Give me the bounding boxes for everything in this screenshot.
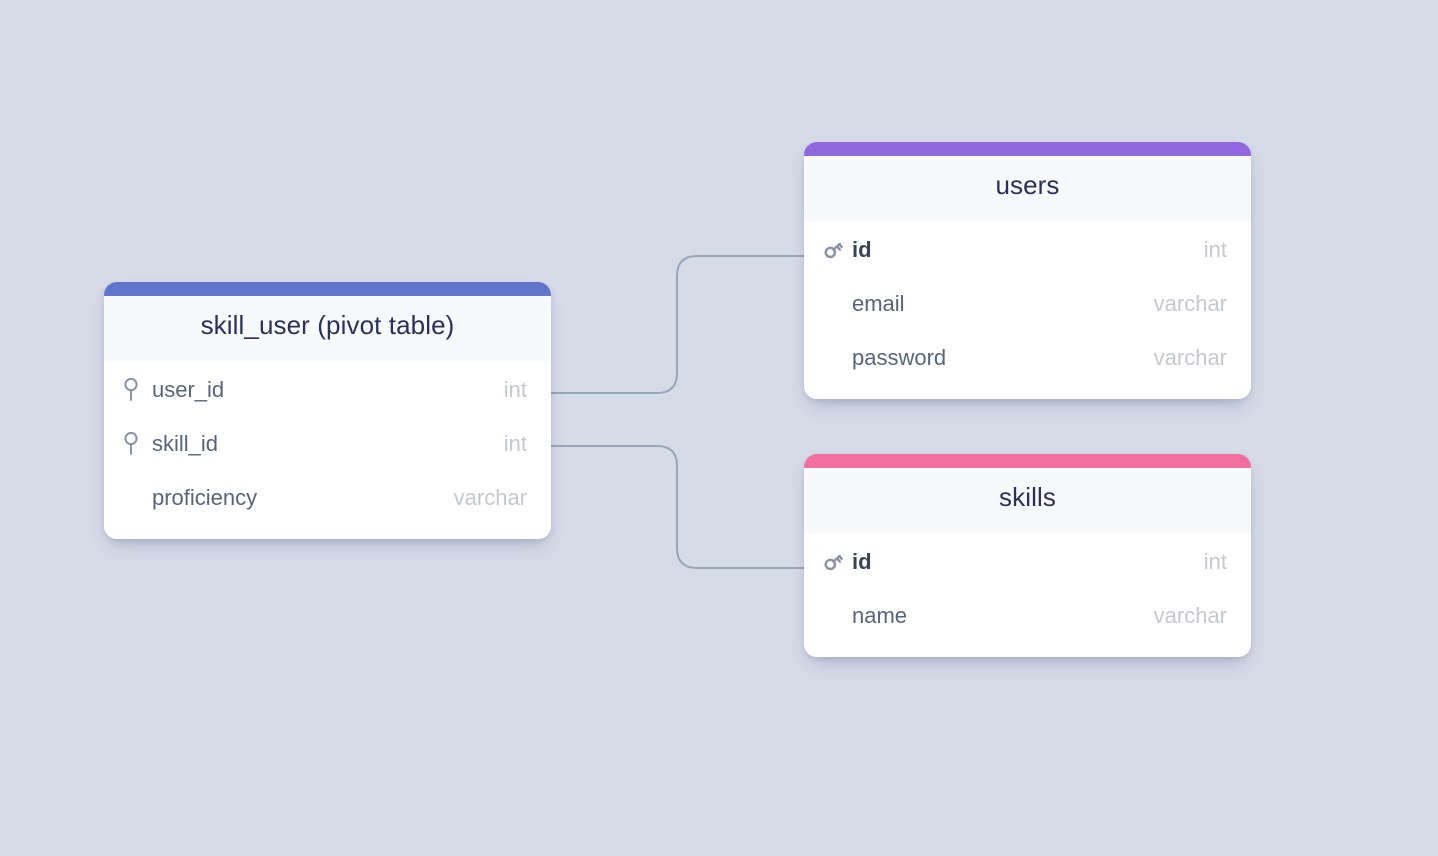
field-name-skills-id: id xyxy=(852,549,1204,575)
foreign-key-icon xyxy=(122,377,152,403)
table-card-skills[interactable]: skills id int xyxy=(804,454,1251,657)
field-name-proficiency: proficiency xyxy=(152,485,454,511)
table-card-skill_user[interactable]: skill_user (pivot table) user_id int xyxy=(104,282,551,539)
relationship-line-skill xyxy=(551,446,804,568)
field-name-user_id: user_id xyxy=(152,377,504,403)
field-type-skills-id: int xyxy=(1204,549,1227,575)
field-type-email: varchar xyxy=(1154,291,1227,317)
no-key-icon xyxy=(822,605,852,627)
no-key-icon xyxy=(822,293,852,315)
field-name-users-id: id xyxy=(852,237,1204,263)
field-type-skill_id: int xyxy=(504,431,527,457)
relationship-line-user xyxy=(551,256,804,393)
field-name-name: name xyxy=(852,603,1154,629)
primary-key-icon xyxy=(822,551,852,573)
field-row-user_id[interactable]: user_id int xyxy=(104,363,551,417)
no-key-icon xyxy=(822,347,852,369)
foreign-key-icon xyxy=(122,431,152,457)
field-type-user_id: int xyxy=(504,377,527,403)
table-accent-bar-skills xyxy=(804,454,1251,468)
field-type-users-id: int xyxy=(1204,237,1227,263)
field-row-proficiency[interactable]: proficiency varchar xyxy=(104,471,551,525)
field-row-name[interactable]: name varchar xyxy=(804,589,1251,643)
field-type-name: varchar xyxy=(1154,603,1227,629)
table-title-users: users xyxy=(804,156,1251,221)
table-card-users[interactable]: users id int xyxy=(804,142,1251,399)
field-row-skill_id[interactable]: skill_id int xyxy=(104,417,551,471)
field-row-users-id[interactable]: id int xyxy=(804,223,1251,277)
field-name-skill_id: skill_id xyxy=(152,431,504,457)
erd-canvas: skill_user (pivot table) user_id int xyxy=(0,0,1438,856)
no-key-icon xyxy=(122,485,152,511)
table-accent-bar-users xyxy=(804,142,1251,156)
field-row-password[interactable]: password varchar xyxy=(804,331,1251,385)
field-name-password: password xyxy=(852,345,1154,371)
field-list-skill_user: user_id int skill_id int proficiency xyxy=(104,361,551,539)
primary-key-icon xyxy=(822,239,852,261)
field-row-email[interactable]: email varchar xyxy=(804,277,1251,331)
table-title-skill_user: skill_user (pivot table) xyxy=(104,296,551,361)
field-list-skills: id int name varchar xyxy=(804,533,1251,657)
field-row-skills-id[interactable]: id int xyxy=(804,535,1251,589)
field-type-password: varchar xyxy=(1154,345,1227,371)
field-type-proficiency: varchar xyxy=(454,485,527,511)
table-title-skills: skills xyxy=(804,468,1251,533)
table-accent-bar-skill_user xyxy=(104,282,551,296)
field-name-email: email xyxy=(852,291,1154,317)
field-list-users: id int email varchar password varchar xyxy=(804,221,1251,399)
